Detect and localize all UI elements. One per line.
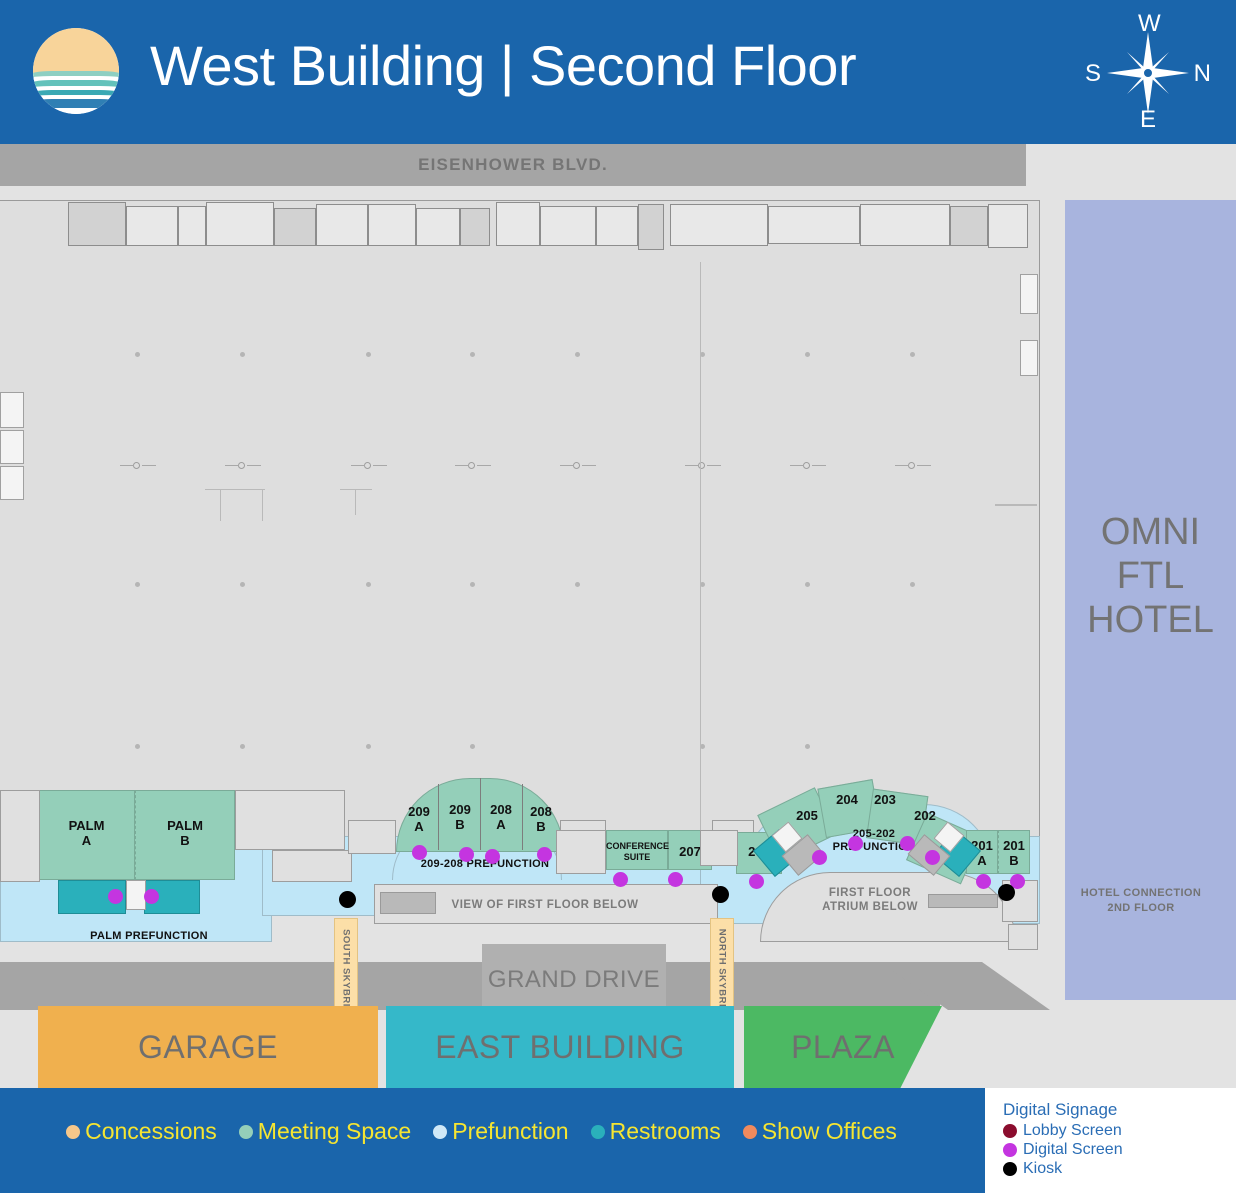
room-205-label: 205 [790,808,824,823]
block-garage[interactable]: GARAGE [38,1006,378,1088]
room-203-label: 203 [868,792,902,807]
hotel-line-2: FTL [1065,554,1236,598]
first-floor-escalator [380,892,436,914]
legend-label-prefunction: Prefunction [452,1118,568,1145]
omni-hotel-label: OMNI FTL HOTEL [1065,510,1236,642]
atrium-label-line-2: ATRIUM BELOW [800,900,940,914]
206-service-plate [700,830,738,866]
kiosk-dot-central[interactable] [712,886,729,903]
legend-item-show-offices: Show Offices [743,1118,897,1145]
page-title: West Building | Second Floor [150,33,856,98]
legend-swatch-restrooms-icon [591,1125,605,1139]
signage-item-lobby-screen: Lobby Screen [1003,1122,1236,1140]
digital-signage-legend: Digital Signage Lobby Screen Digital Scr… [985,1088,1236,1193]
digital-screen-dot-204[interactable] [848,836,863,851]
view-first-floor-label: VIEW OF FIRST FLOOR BELOW [420,898,670,912]
grand-drive-road [0,962,940,1010]
compass-label-s: S [1085,60,1101,88]
digital-screen-dot-209a[interactable] [412,845,427,860]
west-corridor-plate [235,790,345,850]
room-202-label: 202 [908,808,942,823]
hotel-connection-line-2: 2ND FLOOR [1046,901,1236,916]
digital-screen-dot-206[interactable] [749,874,764,889]
legend-label-restrooms: Restrooms [610,1118,721,1145]
room-204-label: 204 [830,792,864,807]
digital-screen-dot-palm-1[interactable] [108,889,123,904]
signage-label-kiosk: Kiosk [1023,1160,1062,1178]
legend-item-restrooms: Restrooms [591,1118,721,1145]
compass-label-n: N [1194,60,1211,88]
compass-rose-icon: W N E S [1083,8,1213,136]
block-east-building[interactable]: EAST BUILDING [386,1006,734,1088]
digital-screen-dot-conference[interactable] [613,872,628,887]
kiosk-dot-south[interactable] [339,891,356,908]
legend-label-meeting-space: Meeting Space [258,1118,411,1145]
map-legend: Concessions Meeting Space Prefunction Re… [0,1118,985,1145]
legend-swatch-prefunction-icon [433,1125,447,1139]
digital-screen-dot-203[interactable] [900,836,915,851]
sunset-waves-logo-icon [33,28,119,114]
floor-plan-map[interactable]: EISENHOWER BLVD. [0,144,1236,1088]
lobby-screen-dot-icon [1003,1124,1017,1138]
digital-screen-dot-208b[interactable] [537,847,552,862]
signage-item-kiosk: Kiosk [1003,1160,1236,1178]
legend-swatch-concessions-icon [66,1125,80,1139]
room-209b-label: 209B [443,802,477,832]
kiosk-dot-east[interactable] [998,884,1015,901]
compass-label-e: E [1140,106,1156,134]
digital-screen-dot-209b[interactable] [459,847,474,862]
grand-drive-label: GRAND DRIVE [482,962,666,998]
digital-screen-dot-201a[interactable] [976,874,991,889]
east-stair-plate [1008,924,1038,950]
hotel-connection-label: HOTEL CONNECTION 2ND FLOOR [1046,886,1236,916]
signage-item-digital-screen: Digital Screen [1003,1141,1236,1159]
digital-screen-dot-icon [1003,1143,1017,1157]
street-eisenhower-blvd: EISENHOWER BLVD. [0,144,1026,186]
legend-swatch-show-offices-icon [743,1125,757,1139]
legend-item-concessions: Concessions [66,1118,217,1145]
palm-prefunction-label: PALM PREFUNCTION [46,930,252,943]
room-208b-label: 208B [524,804,558,834]
conference-corridor-plate [556,830,606,874]
digital-screen-dot-205[interactable] [812,850,827,865]
legend-label-show-offices: Show Offices [762,1118,897,1145]
legend-item-meeting-space: Meeting Space [239,1118,411,1145]
legend-item-prefunction: Prefunction [433,1118,568,1145]
block-plaza[interactable]: PLAZA [744,1006,942,1088]
page-header: West Building | Second Floor W N E S [0,0,1236,144]
signage-label-lobby-screen: Lobby Screen [1023,1122,1122,1140]
hotel-line-3: HOTEL [1065,598,1236,642]
digital-screen-dot-207[interactable] [668,872,683,887]
atrium-label-line-1: FIRST FLOOR [800,886,940,900]
atrium-label: FIRST FLOOR ATRIUM BELOW [800,886,940,914]
palm-service-core [0,790,40,882]
room-palm-b-label: PALM B [135,818,235,848]
room-208a-label: 208A [484,802,518,832]
digital-screen-dot-palm-2[interactable] [144,889,159,904]
digital-screen-dot-202[interactable] [925,850,940,865]
digital-screen-dot-208a[interactable] [485,849,500,864]
atrium-escalator [928,894,998,908]
west-support-plate [272,850,352,882]
room-201b-label: 201B [998,838,1030,868]
legend-label-concessions: Concessions [85,1118,217,1145]
room-209a-label: 209A [402,804,436,834]
digital-signage-title: Digital Signage [1003,1100,1236,1120]
room-conference-suite-label: CONFERENCESUITE [606,841,668,863]
hotel-connection-line-1: HOTEL CONNECTION [1046,886,1236,901]
hall-structural-detail [60,200,1040,262]
hotel-line-1: OMNI [1065,510,1236,554]
kiosk-dot-icon [1003,1162,1017,1176]
signage-label-digital-screen: Digital Screen [1023,1141,1123,1159]
compass-label-w: W [1138,10,1161,38]
room-palm-a-label: PALM A [38,818,135,848]
209-service-plate [348,820,396,854]
legend-swatch-meeting-space-icon [239,1125,253,1139]
